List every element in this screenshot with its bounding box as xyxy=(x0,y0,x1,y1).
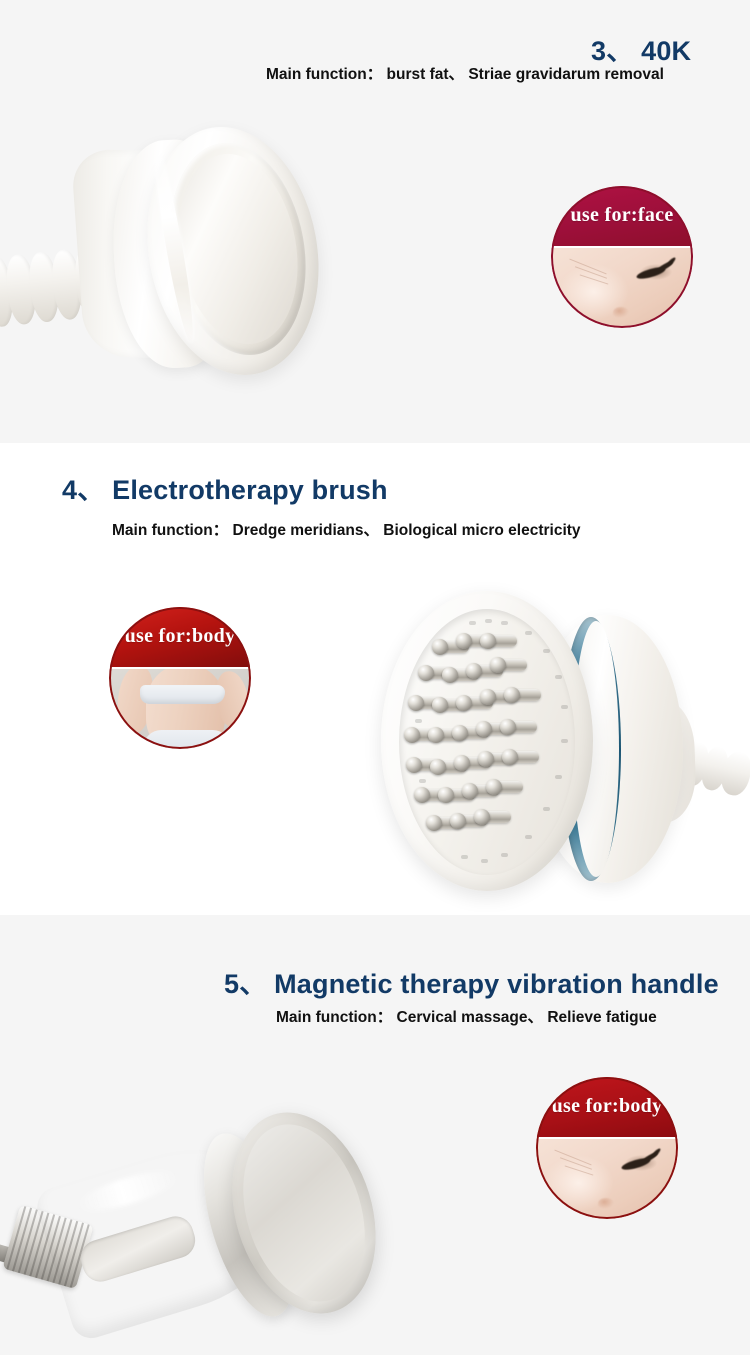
brush-electrode-face xyxy=(399,609,575,875)
electrode-pin xyxy=(479,811,511,823)
section-magnetic-main-function: Main function： Cervical massage、 Relieve… xyxy=(276,1005,657,1027)
product-image-magnetic-handle xyxy=(0,1050,384,1355)
page-footer-strip xyxy=(0,1355,750,1366)
badge-cap: use for:body xyxy=(536,1077,678,1139)
section-brush-main-function: Main function： Dredge meridians、 Biologi… xyxy=(112,518,581,540)
section-magnetic-heading: 5、 Magnetic therapy vibration handle xyxy=(224,962,719,1001)
use-for-badge-face: use for:face xyxy=(551,186,693,328)
electrode-pin xyxy=(509,689,541,701)
badge-label: use for:body xyxy=(552,1095,663,1118)
badge-label: use for:body xyxy=(125,625,236,648)
product-detail-page: 3、 40K Main function： burst fat、 Striae … xyxy=(0,0,750,1366)
product-image-40k-handle xyxy=(0,120,331,380)
badge-cap: use for:face xyxy=(551,186,693,248)
section-magnetic-vibration-handle: 5、 Magnetic therapy vibration handle Mai… xyxy=(0,915,750,1355)
electrode-pin xyxy=(491,781,523,793)
garment-bottom-detail xyxy=(143,730,231,749)
garment-top-detail xyxy=(140,685,225,703)
badge-cap: use for:body xyxy=(109,607,251,669)
section-electrotherapy-brush: 4、 Electrotherapy brush Main function： D… xyxy=(0,443,750,915)
use-for-badge-body-magnetic: use for:body xyxy=(536,1077,678,1219)
electrode-pin xyxy=(485,635,517,647)
electrode-pin xyxy=(495,659,527,671)
eyelash-detail xyxy=(650,1148,661,1159)
nose-detail xyxy=(613,307,629,318)
section-40k-main-function: Main function： burst fat、 Striae gravida… xyxy=(266,62,664,84)
section-brush-heading: 4、 Electrotherapy brush xyxy=(62,468,388,507)
magnetic-treatment-head xyxy=(209,1095,399,1332)
electrode-pin xyxy=(505,721,537,733)
section-40k: 3、 40K Main function： burst fat、 Striae … xyxy=(0,0,750,443)
badge-photo-face xyxy=(551,248,693,328)
badge-photo-body xyxy=(109,669,251,749)
product-image-electrotherapy-brush xyxy=(365,585,745,905)
badge-photo-face xyxy=(536,1139,678,1219)
eyelash-detail xyxy=(665,257,676,268)
badge-label: use for:face xyxy=(571,204,674,227)
electrode-pin xyxy=(507,751,539,763)
use-for-badge-body-brush: use for:body xyxy=(109,607,251,749)
nose-detail xyxy=(598,1198,614,1209)
